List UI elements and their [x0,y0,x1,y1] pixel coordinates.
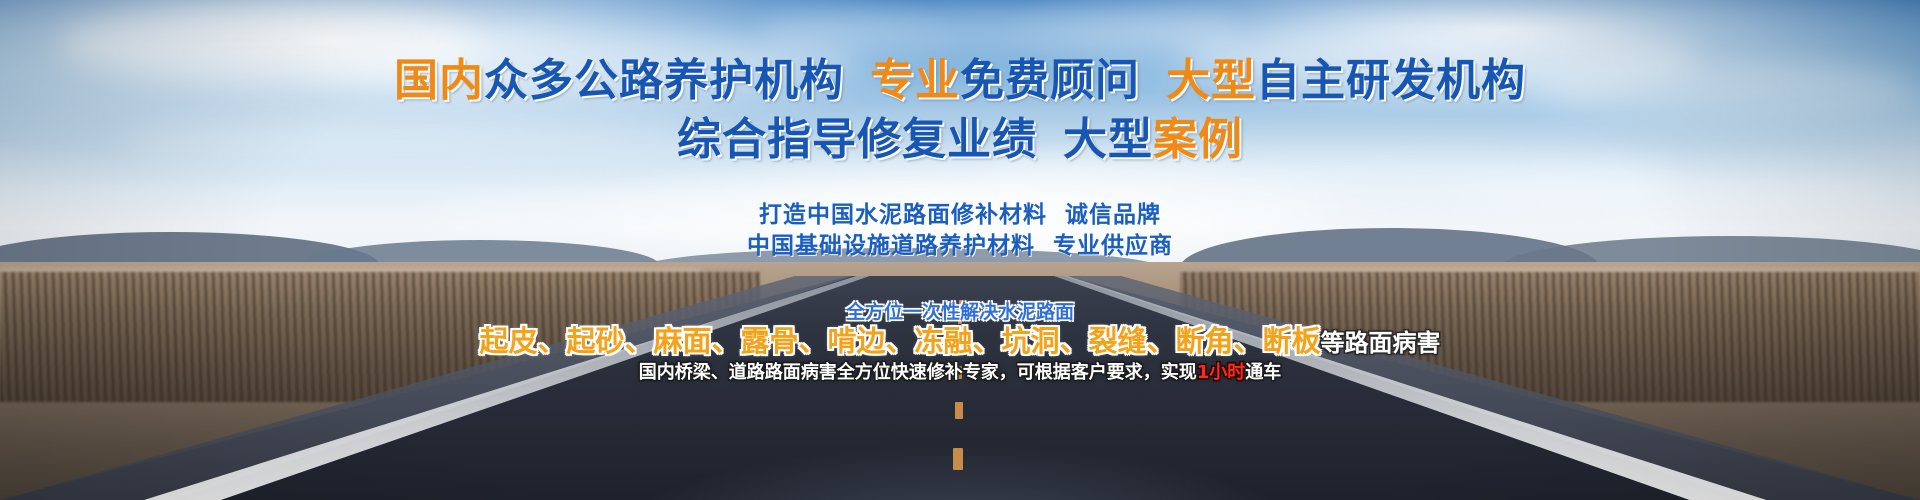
bottom-promise-row: 国内桥梁、道路路面病害全方位快速修补专家，可根据客户要求，实现1小时通车 [0,358,1920,384]
subheadline-brand-claim: 打造中国水泥路面修补材料 [759,202,1047,228]
subheadline-line-1: 打造中国水泥路面修补材料诚信品牌 [0,195,1920,229]
damage-list: 起皮、起砂、麻面、露骨、啃边、冻融、坑洞、裂缝、断角、断板 [479,324,1320,358]
promise-highlight-time: 1小时 [1197,362,1246,383]
headline-line-1: 国内众多公路养护机构专业免费顾问大型自主研发机构 [0,44,1920,108]
headline-seg-daxing: 大型 [1166,55,1256,106]
headline-seg-zhuanye: 专业 [870,55,960,106]
promise-text-tail: 通车 [1245,362,1281,383]
subheadline-trust-brand: 诚信品牌 [1065,202,1161,228]
headline-seg-zizhu: 自主研发机构 [1256,55,1526,106]
headline-seg-zhongduo: 众多公路养护机构 [484,55,844,106]
subheadline-supplier: 专业供应商 [1053,233,1173,259]
headline-seg-zonghe: 综合指导修复业绩 [677,114,1037,165]
headline-line-2: 综合指导修复业绩大型案例 [0,103,1920,167]
promo-banner: 国内众多公路养护机构专业免费顾问大型自主研发机构 综合指导修复业绩大型案例 打造… [0,0,1920,500]
damage-list-tail: 等路面病害 [1321,329,1441,357]
headline-seg-daxing2: 大型 [1063,114,1153,165]
headline-seg-guonei: 国内 [394,55,484,106]
promise-text-lead: 国内桥梁、道路路面病害全方位快速修补专家，可根据客户要求，实现 [639,362,1197,383]
text-overlay: 国内众多公路养护机构专业免费顾问大型自主研发机构 综合指导修复业绩大型案例 打造… [0,0,1920,500]
headline-seg-mianfei: 免费顾问 [960,55,1140,106]
bottom-damage-list-row: 起皮、起砂、麻面、露骨、啃边、冻融、坑洞、裂缝、断角、断板等路面病害 [0,318,1920,360]
subheadline-infra-claim: 中国基础设施道路养护材料 [747,233,1035,259]
headline-seg-anli: 案例 [1153,114,1243,165]
subheadline-line-2: 中国基础设施道路养护材料专业供应商 [0,226,1920,260]
